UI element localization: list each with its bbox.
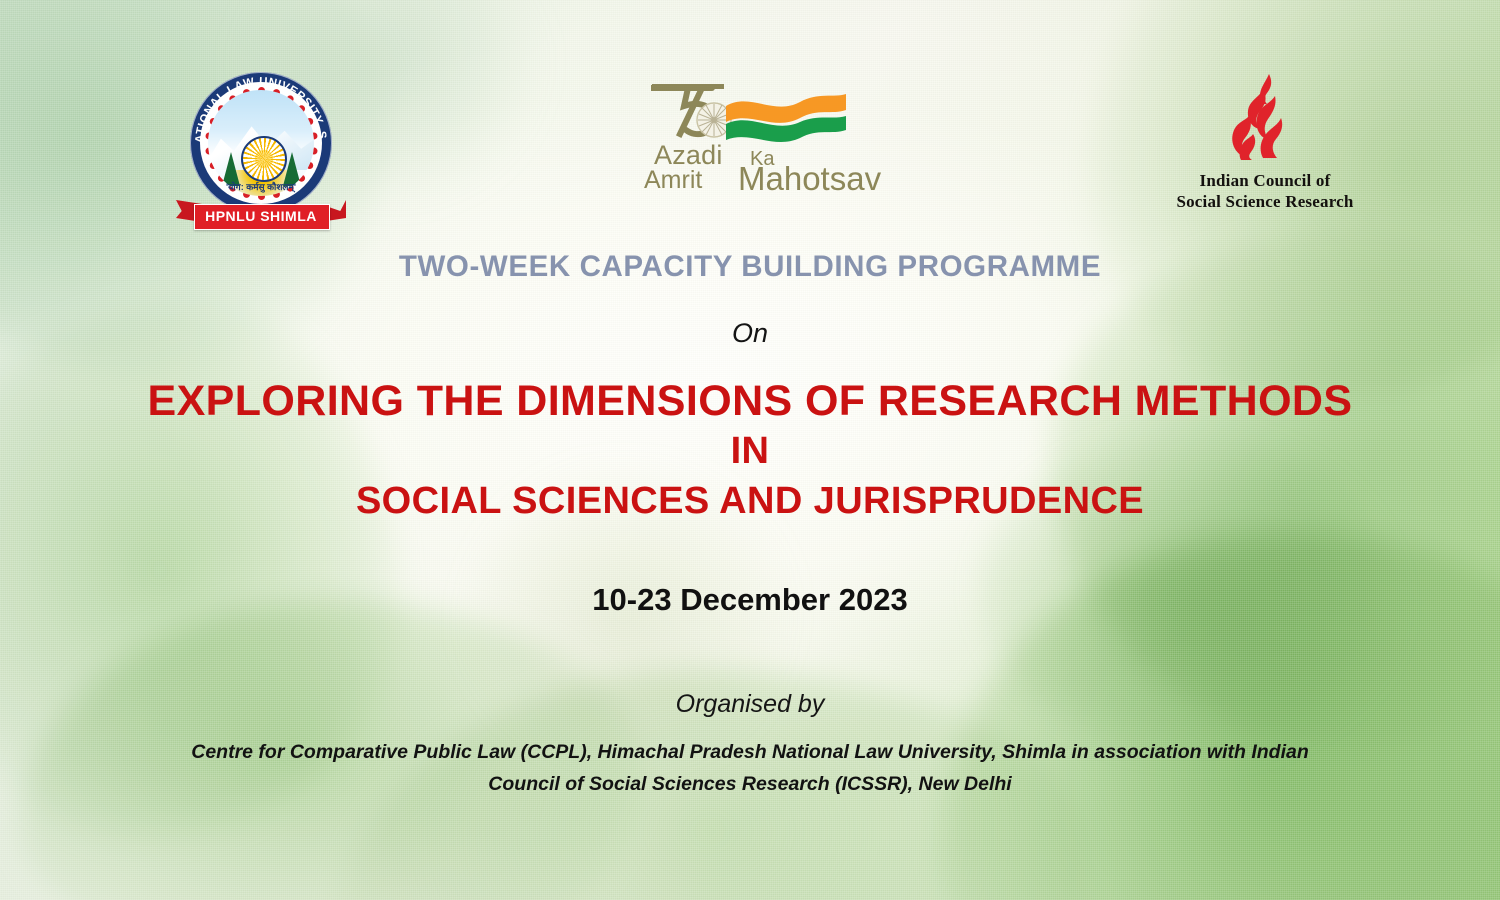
organised-by-label: Organised by	[0, 690, 1500, 719]
programme-dates: 10-23 December 2023	[0, 582, 1500, 618]
seventyfive-flag-icon	[640, 72, 870, 144]
title-line-1: EXPLORING THE DIMENSIONS OF RESEARCH MET…	[0, 375, 1500, 427]
emblem-motto: 'योग: कर्मसु कौशलम्'	[226, 180, 296, 193]
poster-content: TWO-WEEK CAPACITY BUILDING PROGRAMME On …	[0, 250, 1500, 800]
hpnlu-shimla-logo: H.P. NATIONAL LAW UNIVERSITY, SHIMLA 'यो…	[176, 72, 346, 232]
icssr-name-line1: Indian Council of	[1150, 171, 1380, 192]
on-connector: On	[0, 318, 1500, 349]
icssr-logo: Indian Council of Social Science Researc…	[1150, 72, 1380, 222]
organiser-details: Centre for Comparative Public Law (CCPL)…	[0, 737, 1500, 800]
svg-text:H.P. NATIONAL LAW UNIVERSITY,: H.P. NATIONAL LAW UNIVERSITY, SHIMLA	[190, 72, 328, 143]
icssr-name: Indian Council of Social Science Researc…	[1150, 171, 1380, 212]
azadi-ka-amrit-mahotsav-logo: Azadi Ka Amrit Mahotsav	[640, 72, 870, 200]
programme-subtitle: TWO-WEEK CAPACITY BUILDING PROGRAMME	[0, 250, 1500, 284]
emblem-ribbon: HPNLU SHIMLA	[176, 200, 346, 232]
event-poster: H.P. NATIONAL LAW UNIVERSITY, SHIMLA 'यो…	[0, 0, 1500, 900]
azadi-line2: Amrit	[644, 166, 702, 195]
icssr-name-line2: Social Science Research	[1150, 192, 1380, 213]
azadi-wordmark: Azadi Ka Amrit Mahotsav	[644, 140, 870, 200]
organiser-line-1: Centre for Comparative Public Law (CCPL)…	[0, 737, 1500, 769]
programme-title: EXPLORING THE DIMENSIONS OF RESEARCH MET…	[0, 375, 1500, 526]
logo-row: H.P. NATIONAL LAW UNIVERSITY, SHIMLA 'यो…	[0, 0, 1500, 240]
flame-torch-icon	[1219, 72, 1311, 162]
title-line-3: SOCIAL SCIENCES AND JURISPRUDENCE	[0, 477, 1500, 526]
emblem-arc-label: H.P. NATIONAL LAW UNIVERSITY, SHIMLA	[190, 72, 328, 143]
ribbon-label: HPNLU SHIMLA	[176, 208, 346, 224]
azadi-mahotsav: Mahotsav	[738, 160, 881, 198]
organiser-line-2: Council of Social Sciences Research (ICS…	[0, 769, 1500, 801]
title-line-2: IN	[0, 427, 1500, 476]
